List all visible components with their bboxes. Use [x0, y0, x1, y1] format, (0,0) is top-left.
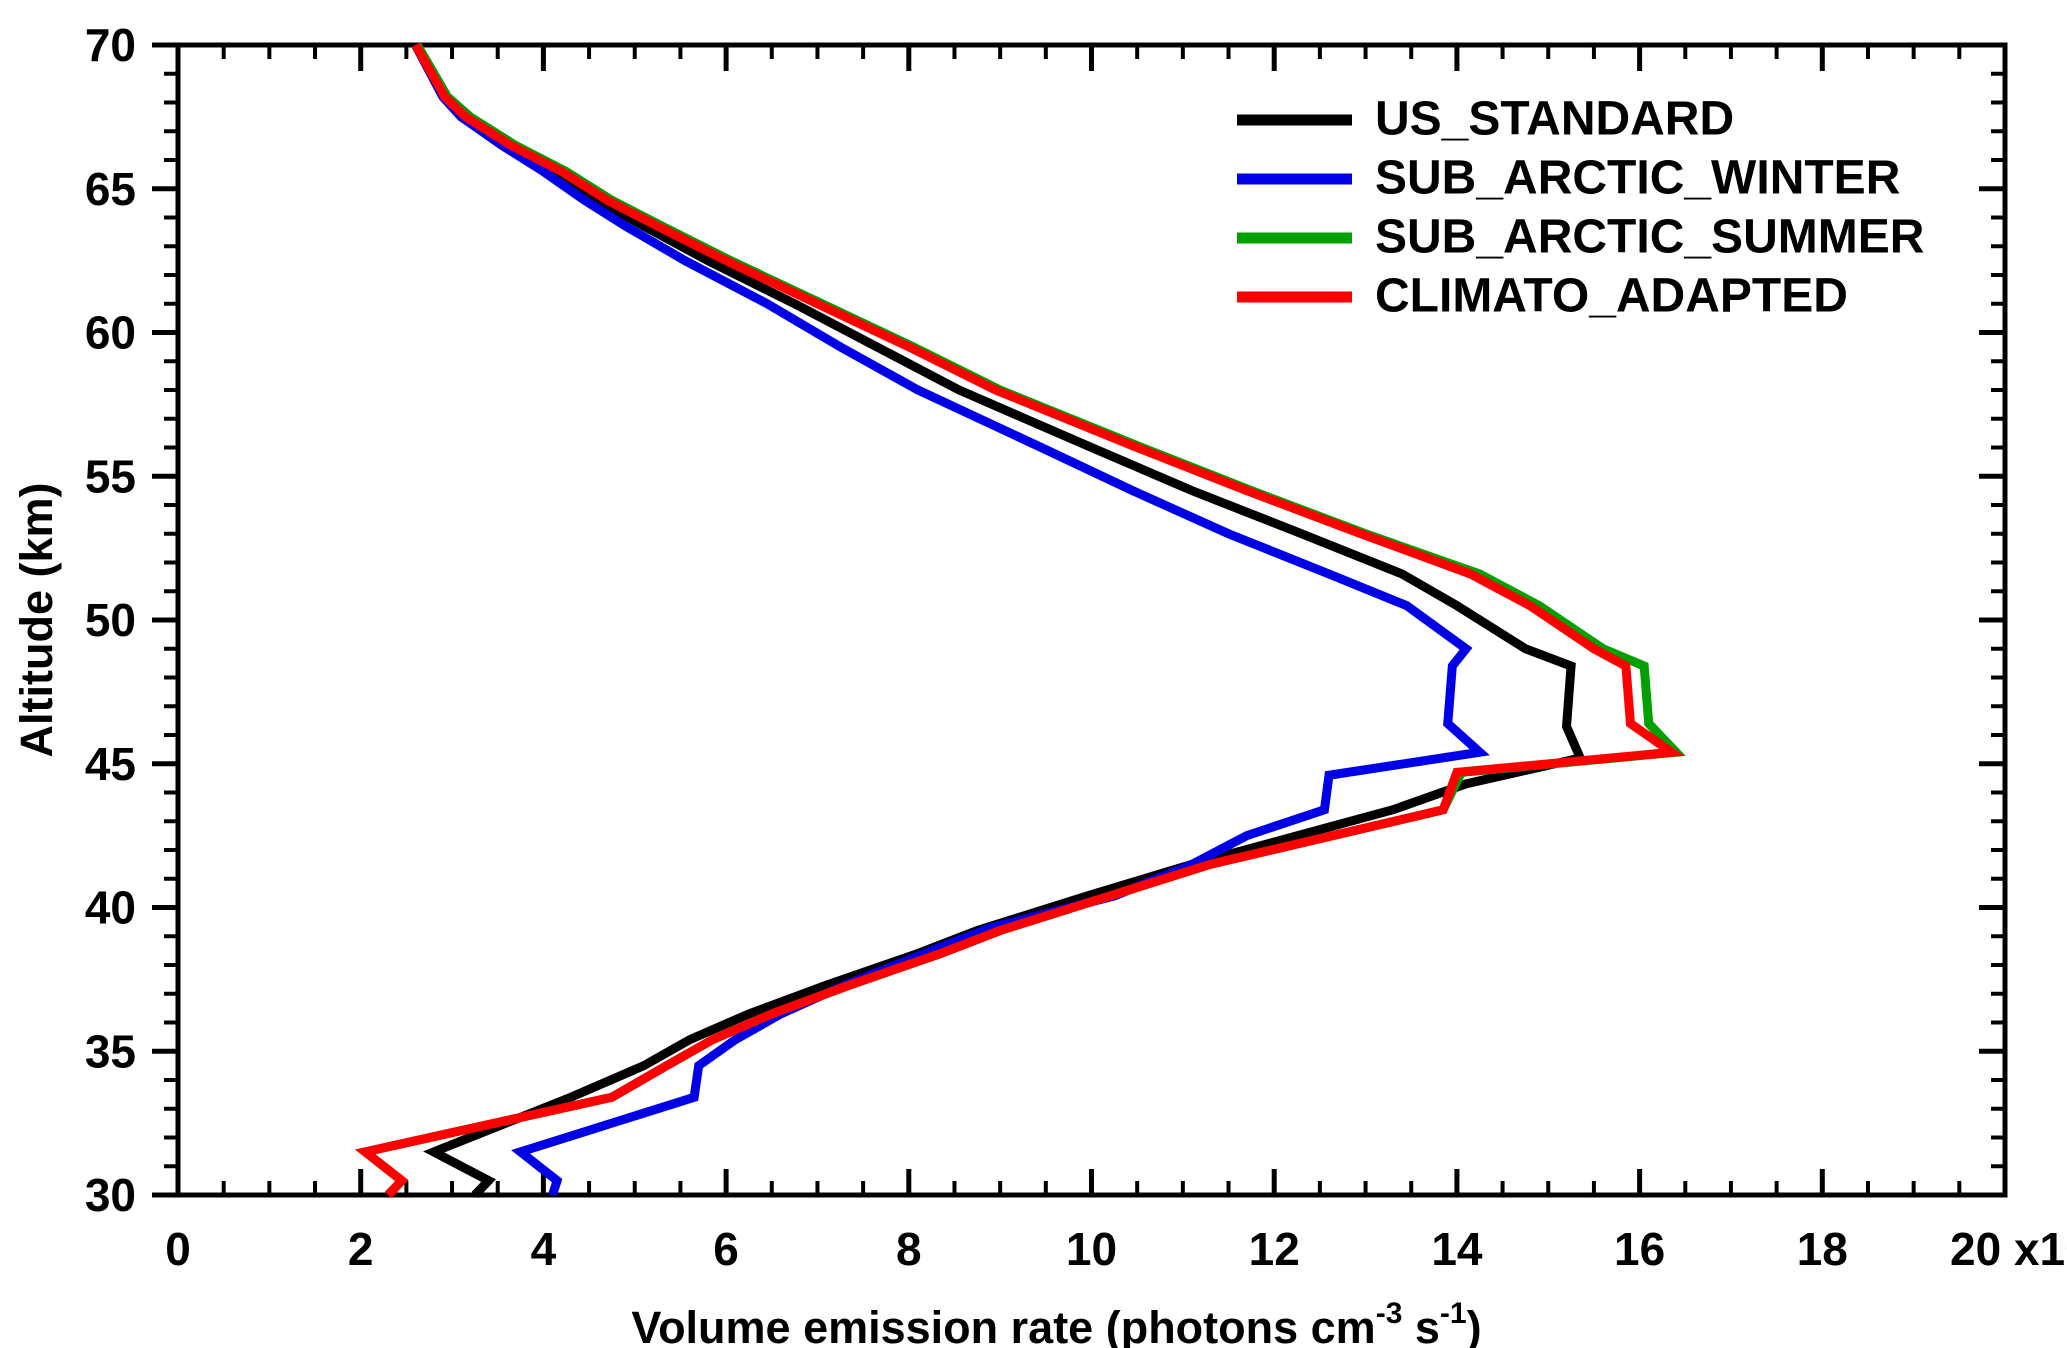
- x-tick-label: 10: [1066, 1223, 1117, 1275]
- y-tick-label: 45: [85, 738, 136, 790]
- y-tick-label: 40: [85, 882, 136, 934]
- x-tick-label: 14: [1431, 1223, 1483, 1275]
- x-tick-label: 6: [713, 1223, 739, 1275]
- y-tick-label: 65: [85, 163, 136, 215]
- x-tick-label: 0: [165, 1223, 191, 1275]
- y-tick-label: 70: [85, 19, 136, 71]
- x-tick-label: 18: [1797, 1223, 1848, 1275]
- series-line-sub-arctic-winter: [416, 45, 1480, 1195]
- x-tick-label: 4: [531, 1223, 557, 1275]
- y-tick-label: 30: [85, 1169, 136, 1221]
- y-tick-label: 55: [85, 450, 136, 502]
- legend-label-us-standard: US_STANDARD: [1375, 93, 1734, 146]
- axis-titles-group: Volume emission rate (photons cm-3 s-1)A…: [11, 483, 1482, 1348]
- x-axis-title: Volume emission rate (photons cm-3 s-1): [631, 1297, 1481, 1348]
- plot-canvas: 02468101214161820 x106303540455055606570…: [0, 0, 2067, 1348]
- y-tick-label: 35: [85, 1025, 136, 1077]
- x-axis-exponent-label: 20 x106: [1950, 1221, 2067, 1275]
- y-axis-title: Altitude (km): [11, 483, 62, 758]
- chart-legend[interactable]: US_STANDARDSUB_ARCTIC_WINTERSUB_ARCTIC_S…: [1237, 93, 1924, 323]
- chart-figure: 02468101214161820 x106303540455055606570…: [0, 0, 2067, 1348]
- legend-label-climato-adapted: CLIMATO_ADAPTED: [1375, 270, 1848, 323]
- legend-label-sub-arctic-winter: SUB_ARCTIC_WINTER: [1375, 152, 1900, 205]
- tick-labels-group: 02468101214161820 x106303540455055606570: [85, 19, 2067, 1275]
- x-tick-label: 16: [1614, 1223, 1665, 1275]
- x-tick-label: 2: [348, 1223, 374, 1275]
- x-tick-label: 12: [1249, 1223, 1300, 1275]
- y-tick-label: 60: [85, 307, 136, 359]
- legend-label-sub-arctic-summer: SUB_ARCTIC_SUMMER: [1375, 211, 1924, 264]
- y-tick-label: 50: [85, 594, 136, 646]
- x-tick-label: 8: [896, 1223, 922, 1275]
